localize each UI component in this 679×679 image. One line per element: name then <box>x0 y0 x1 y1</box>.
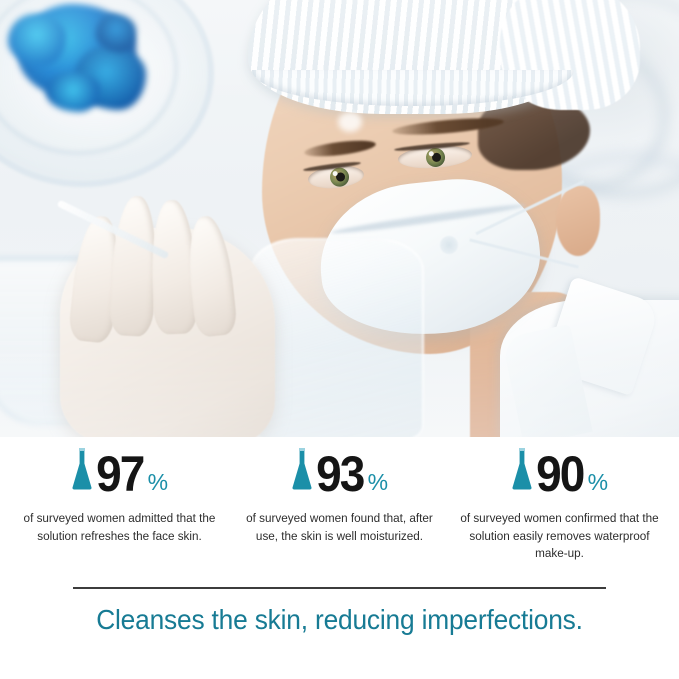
tagline: Cleanses the skin, reducing imperfection… <box>20 603 658 637</box>
stat-value: 97 <box>96 451 143 497</box>
flask-icon <box>511 447 533 496</box>
stat-description: of surveyed women admitted that the solu… <box>18 510 221 545</box>
stat-block: 90 % of surveyed women confirmed that th… <box>454 445 665 563</box>
lab-photograph <box>0 0 679 437</box>
statistics-panel: 97 % of surveyed women admitted that the… <box>0 437 679 679</box>
stat-unit: % <box>368 470 388 497</box>
stat-unit: % <box>148 470 168 497</box>
stat-value: 90 <box>536 451 583 497</box>
stat-figure: 97 % <box>14 445 225 497</box>
stat-figure: 90 % <box>454 445 665 497</box>
infographic-page: 97 % of surveyed women admitted that the… <box>0 0 679 679</box>
flask-icon <box>291 447 313 496</box>
stat-block: 93 % of surveyed women found that, after… <box>234 445 445 563</box>
stat-unit: % <box>588 470 608 497</box>
flask-icon <box>71 447 93 496</box>
horizontal-divider <box>73 587 606 589</box>
stat-description: of surveyed women confirmed that the sol… <box>458 510 661 563</box>
photo-soft-overlay <box>0 0 679 437</box>
stat-block: 97 % of surveyed women admitted that the… <box>14 445 225 563</box>
stat-value: 93 <box>316 451 363 497</box>
statistics-row: 97 % of surveyed women admitted that the… <box>0 445 679 563</box>
stat-figure: 93 % <box>234 445 445 497</box>
stat-description: of surveyed women found that, after use,… <box>238 510 441 545</box>
